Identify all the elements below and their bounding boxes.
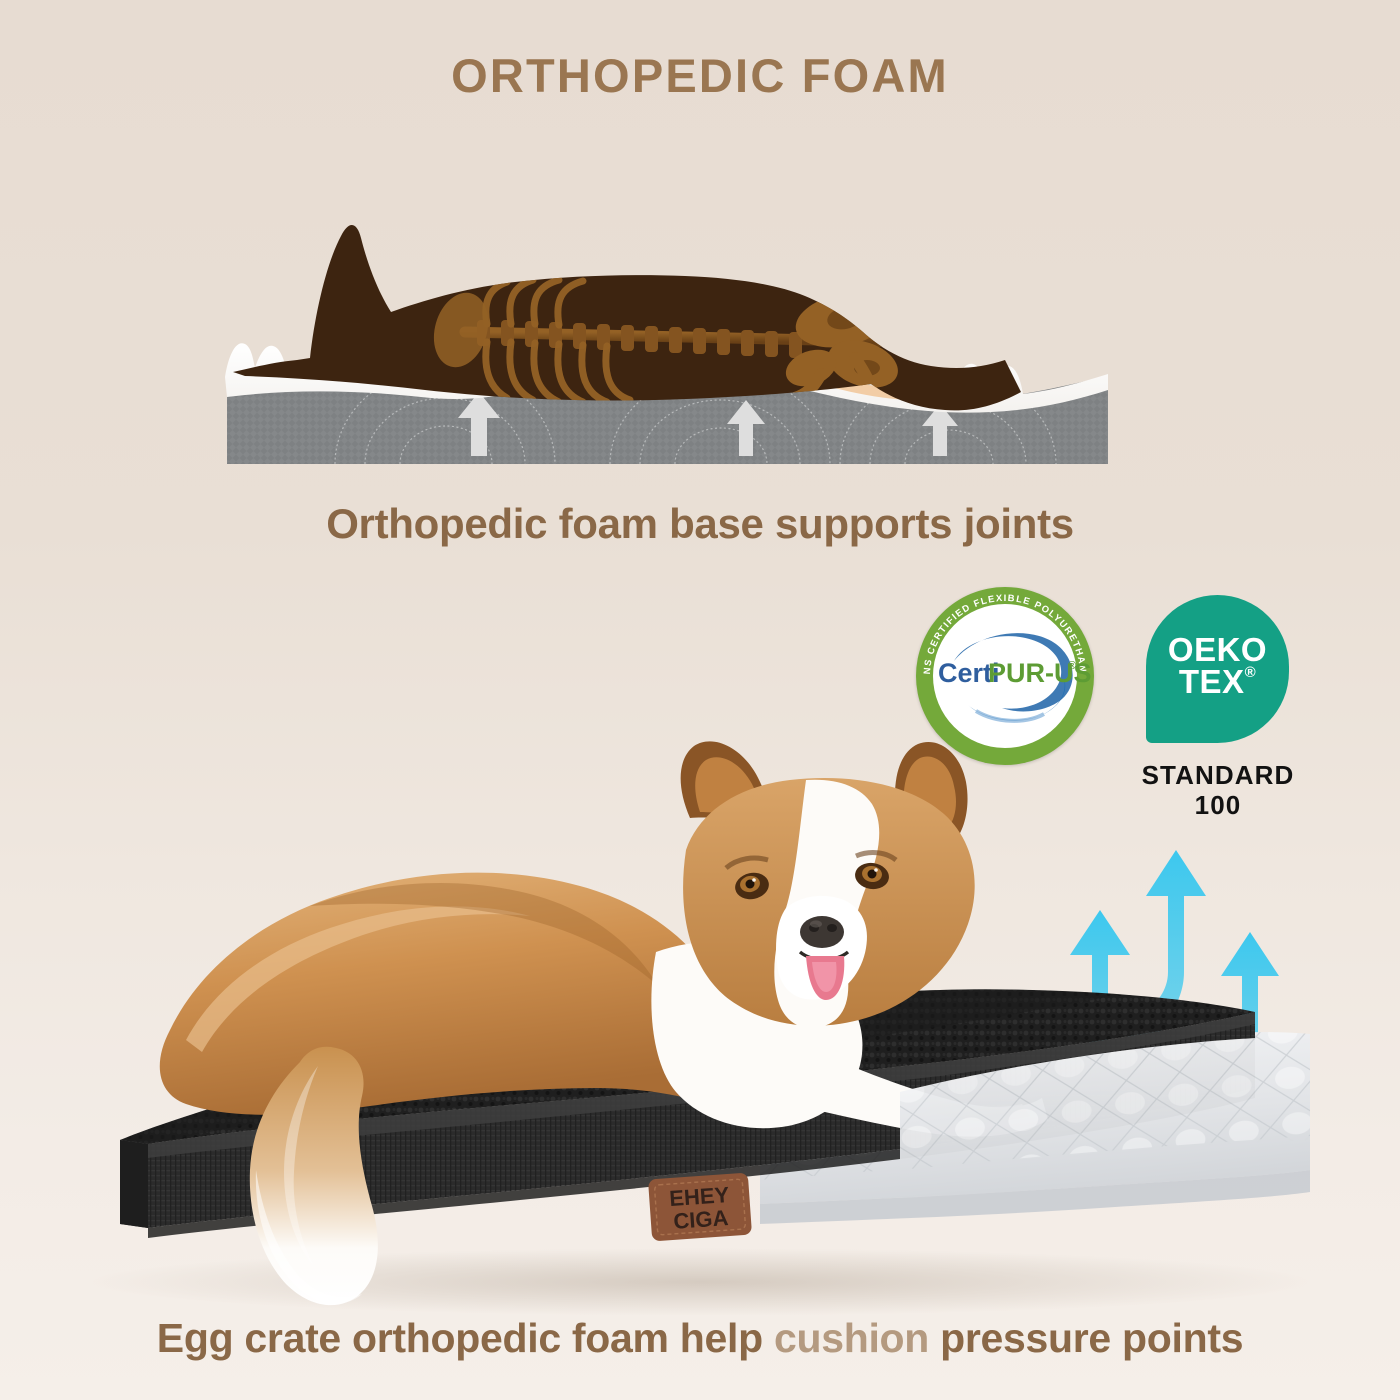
brand-patch: EHEY CIGA [648, 1173, 752, 1242]
caption-part-3: pressure points [929, 1315, 1243, 1361]
product-caption: Egg crate orthopedic foam help cushion p… [0, 1315, 1400, 1362]
oeko-line-2-wrap: TEX® [1168, 666, 1267, 698]
dog-nose [800, 916, 844, 948]
oeko-line-2: TEX [1179, 663, 1245, 700]
oeko-line-1: OEKO [1168, 634, 1267, 666]
certipur-registered-mark: ® [1068, 660, 1076, 672]
dog-head [681, 741, 975, 1028]
page-title: ORTHOPEDIC FOAM [0, 48, 1400, 103]
oeko-tex-label: OEKO TEX® [1168, 634, 1267, 699]
oeko-registered-mark: ® [1245, 664, 1257, 681]
illustration-caption: Orthopedic foam base supports joints [0, 500, 1400, 548]
product-photo-scene: EHEY CIGA [0, 700, 1400, 1320]
bed-left-corner [120, 1140, 148, 1228]
caption-part-1: Egg crate orthopedic foam help [157, 1315, 774, 1361]
caption-part-2: cushion [774, 1315, 929, 1361]
brand-patch-line-2: CIGA [673, 1205, 730, 1234]
orthopedic-foam-illustration [215, 192, 1120, 474]
